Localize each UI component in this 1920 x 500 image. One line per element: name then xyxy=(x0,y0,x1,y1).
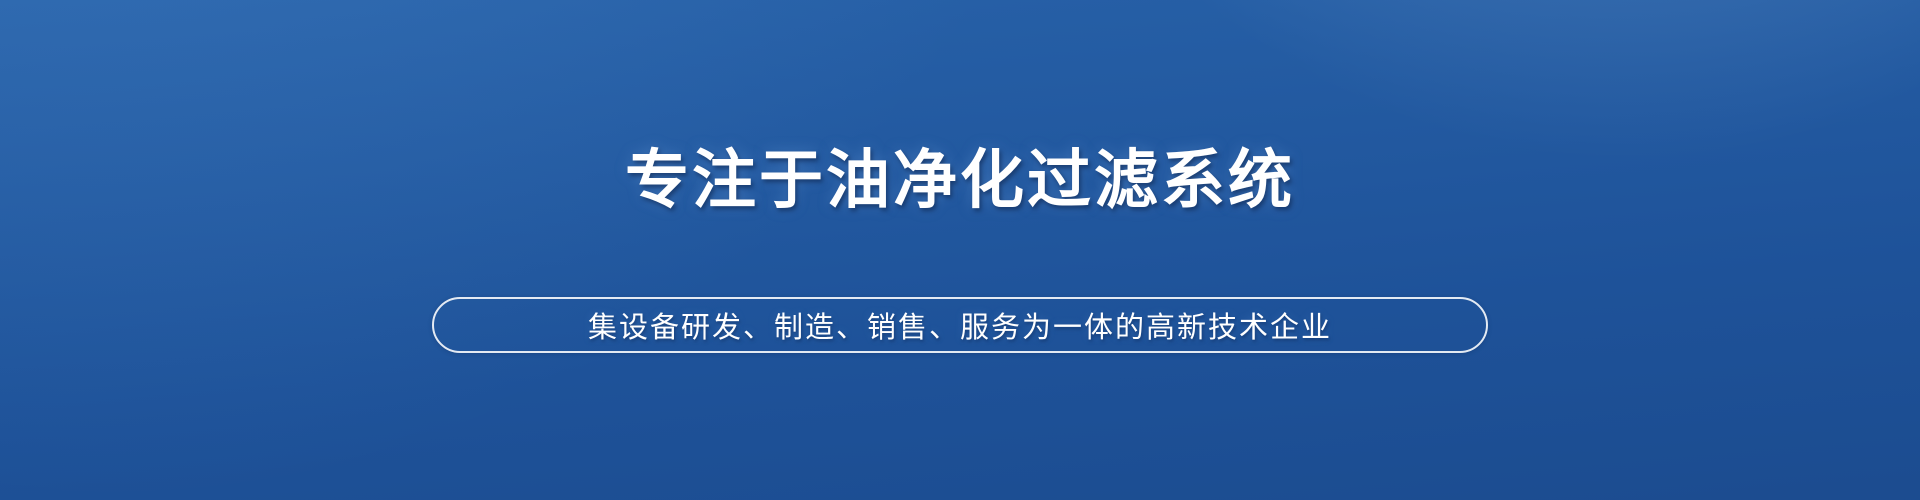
earth-globe xyxy=(0,0,1920,500)
hero-banner: 专注于油净化过滤系统 集设备研发、制造、销售、服务为一体的高新技术企业 xyxy=(0,0,1920,500)
banner-subtitle-pill: 集设备研发、制造、销售、服务为一体的高新技术企业 xyxy=(432,297,1488,353)
banner-subtitle-text: 集设备研发、制造、销售、服务为一体的高新技术企业 xyxy=(588,304,1332,346)
earth-limb-highlight xyxy=(0,0,1920,500)
banner-headline: 专注于油净化过滤系统 xyxy=(0,143,1920,219)
